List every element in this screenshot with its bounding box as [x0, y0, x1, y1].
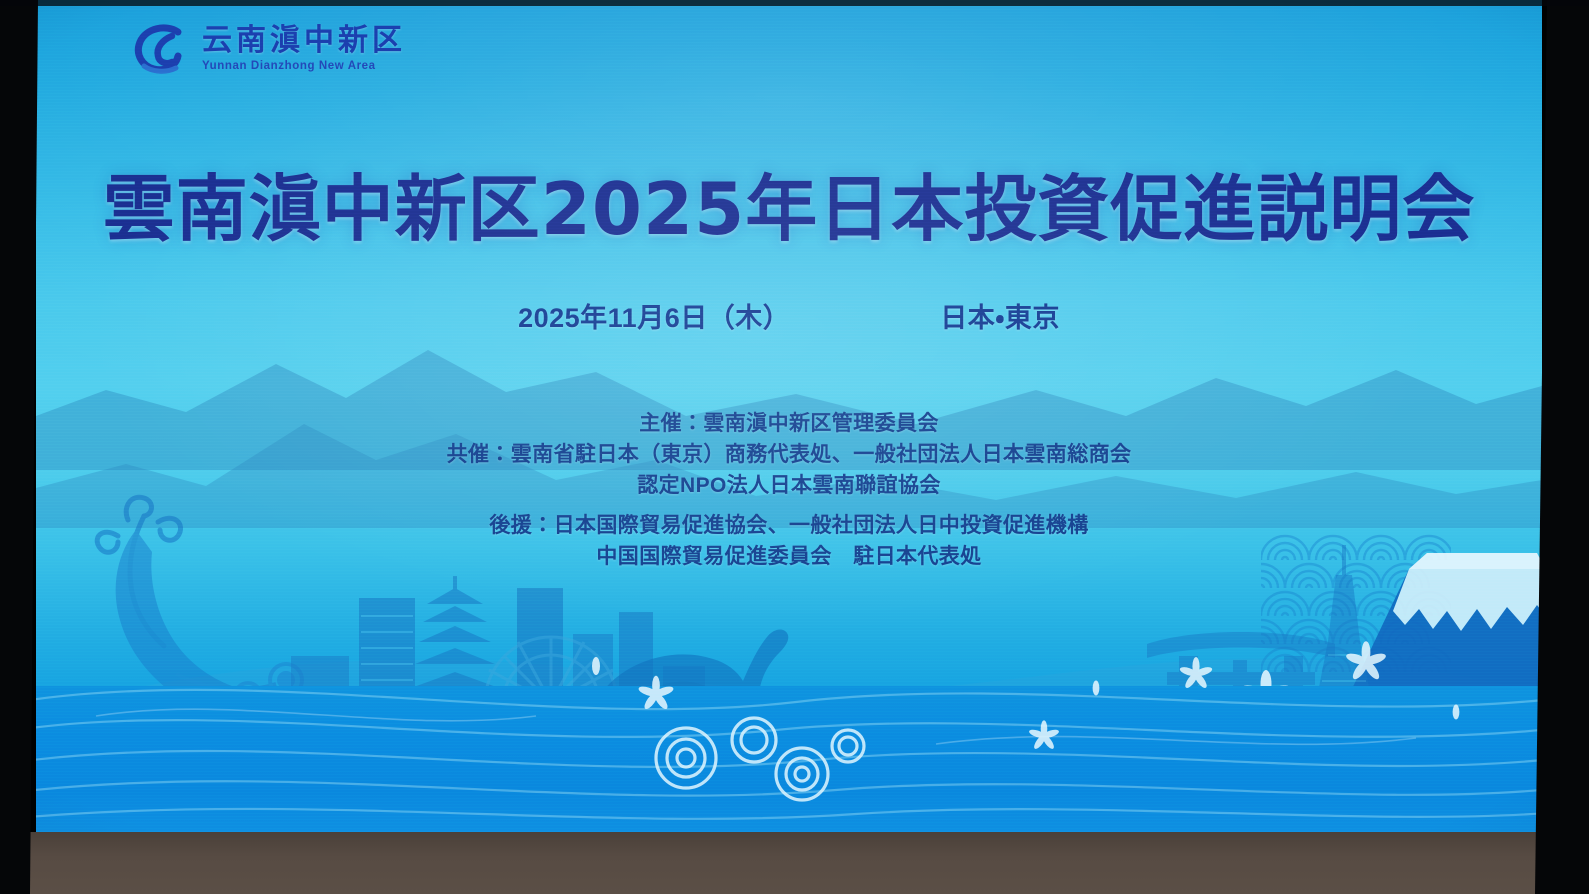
host-line: 主催：雲南滇中新区管理委員会	[36, 408, 1542, 439]
room-wall	[0, 832, 1589, 894]
event-location: 日本・東京	[940, 296, 1060, 335]
spacer	[36, 501, 1542, 510]
cohost-line-1: 共催：雲南省駐日本（東京）商務代表処、一般社団法人日本雲南総商会	[36, 439, 1542, 470]
projected-slide-photo: 云南滇中新区 Yunnan Dianzhong New Area 雲南滇中新区2…	[0, 0, 1589, 894]
event-date: 2025年11月6日（木）	[518, 296, 790, 335]
room-top-edge	[0, 0, 1589, 6]
dianzhong-swirl-logo-icon	[128, 18, 190, 80]
logo: 云南滇中新区 Yunnan Dianzhong New Area	[128, 18, 406, 80]
event-meta: 2025年11月6日（木） 日本・東京	[36, 296, 1542, 335]
support-line-2: 中国国際貿易促進委員会 駐日本代表処	[36, 541, 1542, 572]
logo-en-name: Yunnan Dianzhong New Area	[202, 61, 406, 73]
presentation-screen: 云南滇中新区 Yunnan Dianzhong New Area 雲南滇中新区2…	[36, 0, 1542, 836]
organizer-block: 主催：雲南滇中新区管理委員会 共催：雲南省駐日本（東京）商務代表処、一般社団法人…	[36, 408, 1542, 572]
page-title: 雲南滇中新区2025年日本投資促進説明会	[36, 150, 1542, 255]
cohost-line-2: 認定NPO法人日本雲南聯誼協会	[36, 470, 1542, 501]
support-line-1: 後援：日本国際貿易促進協会、一般社団法人日中投資促進機構	[36, 510, 1542, 541]
logo-cn-name: 云南滇中新区	[202, 26, 406, 56]
flower-cluster-icon	[626, 700, 886, 820]
